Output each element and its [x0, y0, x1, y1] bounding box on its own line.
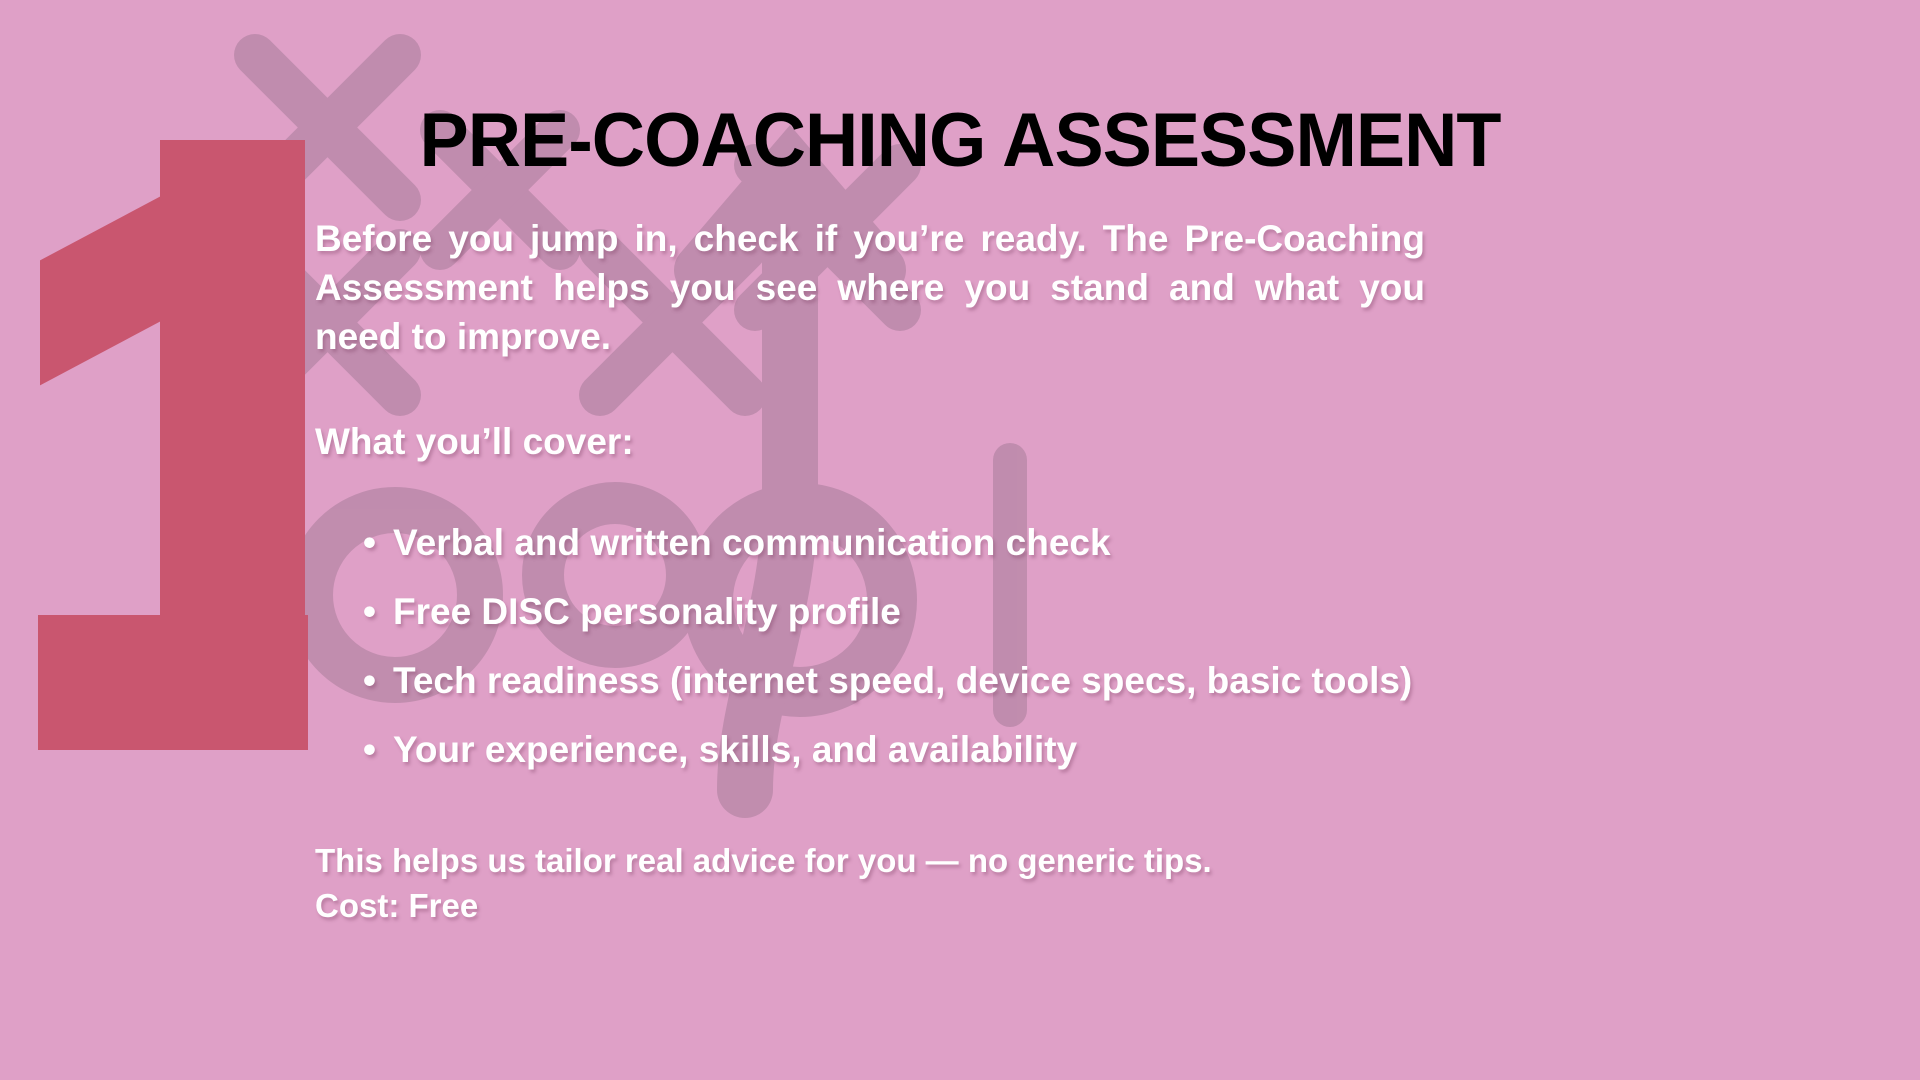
bullet-icon: • [363, 726, 376, 775]
list-item-label: Verbal and written communication check [393, 522, 1111, 563]
coverage-list: • Verbal and written communication check… [315, 519, 1425, 774]
section-label: What you’ll cover: [315, 418, 1425, 467]
body-text-block: Before you jump in, check if you’re read… [315, 215, 1425, 929]
bullet-icon: • [363, 657, 376, 706]
list-item-label: Your experience, skills, and availabilit… [393, 729, 1077, 770]
bullet-icon: • [363, 519, 376, 568]
closing-paragraph: This helps us tailor real advice for you… [315, 838, 1425, 884]
slide-canvas: PRE-COACHING ASSESSMENT Before you jump … [0, 0, 1920, 1080]
list-item: • Verbal and written communication check [363, 519, 1425, 568]
list-item: • Your experience, skills, and availabil… [363, 726, 1425, 775]
list-item-label: Tech readiness (internet speed, device s… [393, 660, 1412, 701]
cost-line: Cost: Free [315, 883, 1425, 929]
list-item: • Free DISC personality profile [363, 588, 1425, 637]
intro-paragraph: Before you jump in, check if you’re read… [315, 215, 1425, 361]
bullet-icon: • [363, 588, 376, 637]
list-item: • Tech readiness (internet speed, device… [363, 657, 1425, 706]
list-item-label: Free DISC personality profile [393, 591, 901, 632]
slide-content: PRE-COACHING ASSESSMENT Before you jump … [0, 0, 1920, 1080]
page-title: PRE-COACHING ASSESSMENT [29, 103, 1891, 179]
